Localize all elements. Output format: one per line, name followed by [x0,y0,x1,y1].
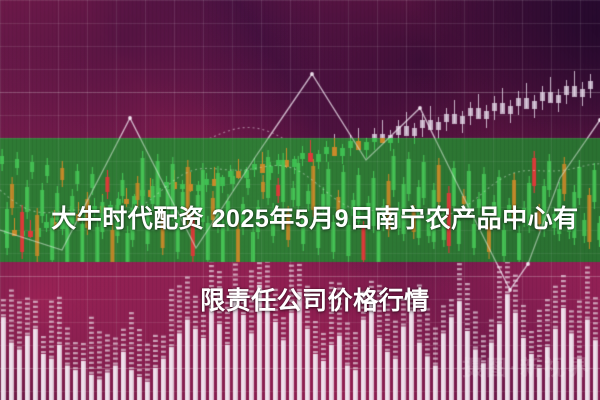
headline-line-1: 大牛时代配资 2025年5月9日南宁农产品中心有 [51,205,578,233]
banner-image: 大牛时代配资 2025年5月9日南宁农产品中心有 限责任公司价格行情 摄图·新视… [0,0,600,400]
page-title: 大牛时代配资 2025年5月9日南宁农产品中心有 限责任公司价格行情 [0,158,600,363]
headline-line-2: 限责任公司价格行情 [200,287,430,315]
